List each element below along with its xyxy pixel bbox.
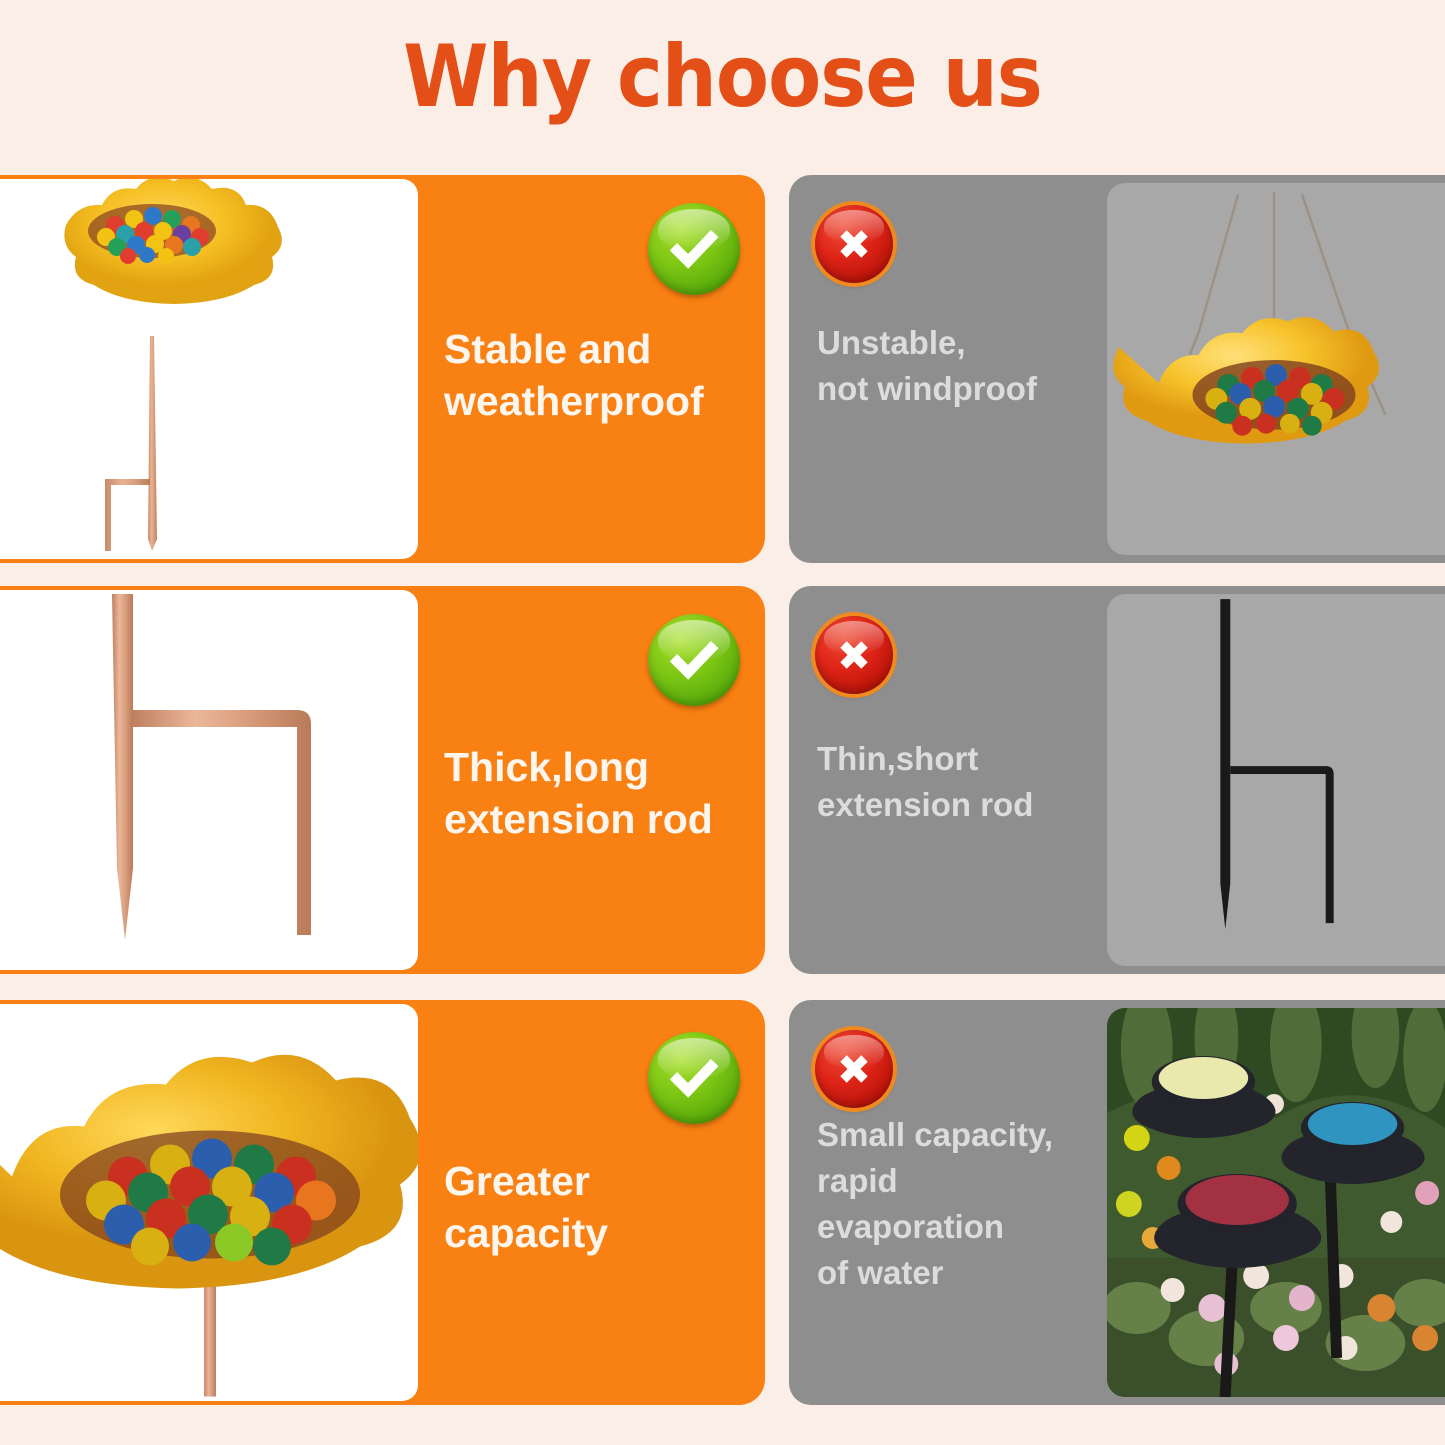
pro-image-2 bbox=[0, 590, 418, 970]
con-card-3: Small capacity, rapid evaporation of wat… bbox=[789, 1000, 1445, 1405]
comparison-row-1: Stable and weatherproof Unstable, not wi… bbox=[0, 175, 1445, 563]
close-icon bbox=[815, 1030, 893, 1108]
close-icon bbox=[815, 205, 893, 283]
close-icon bbox=[815, 616, 893, 694]
comparison-infographic: Why choose us bbox=[0, 0, 1445, 1445]
pro-label-1: Stable and weatherproof bbox=[444, 323, 741, 427]
con-label-2: Thin,short extension rod bbox=[817, 736, 1117, 828]
con-label-3: Small capacity, rapid evaporation of wat… bbox=[817, 1112, 1117, 1296]
con-card-2: Thin,short extension rod bbox=[789, 586, 1445, 974]
page-title: Why choose us bbox=[0, 22, 1445, 132]
pro-image-1 bbox=[0, 179, 418, 559]
comparison-row-3: Greater capacity Small capacity, rapid e… bbox=[0, 1000, 1445, 1405]
check-icon bbox=[648, 203, 740, 295]
pro-card-3: Greater capacity bbox=[0, 1000, 765, 1405]
pro-card-1: Stable and weatherproof bbox=[0, 175, 765, 563]
con-card-1: Unstable, not windproof bbox=[789, 175, 1445, 563]
garden-bird-baths-photo-illustration bbox=[1107, 1008, 1445, 1397]
check-icon bbox=[648, 614, 740, 706]
large-glass-bowl-illustration bbox=[0, 1004, 418, 1401]
con-image-1 bbox=[1107, 183, 1445, 555]
flower-bird-bath-on-stake-illustration bbox=[0, 179, 418, 559]
con-image-2 bbox=[1107, 594, 1445, 966]
thin-black-rod-illustration bbox=[1107, 594, 1445, 966]
hanging-bird-bath-illustration bbox=[1107, 183, 1445, 555]
comparison-row-2: Thick,long extension rod Thin,short exte… bbox=[0, 586, 1445, 974]
pro-label-3: Greater capacity bbox=[444, 1155, 741, 1259]
thick-copper-rod-illustration bbox=[0, 590, 418, 970]
con-image-3 bbox=[1107, 1008, 1445, 1397]
pro-label-2: Thick,long extension rod bbox=[444, 741, 741, 845]
con-label-1: Unstable, not windproof bbox=[817, 320, 1117, 412]
pro-image-3 bbox=[0, 1004, 418, 1401]
pro-card-2: Thick,long extension rod bbox=[0, 586, 765, 974]
check-icon bbox=[648, 1032, 740, 1124]
